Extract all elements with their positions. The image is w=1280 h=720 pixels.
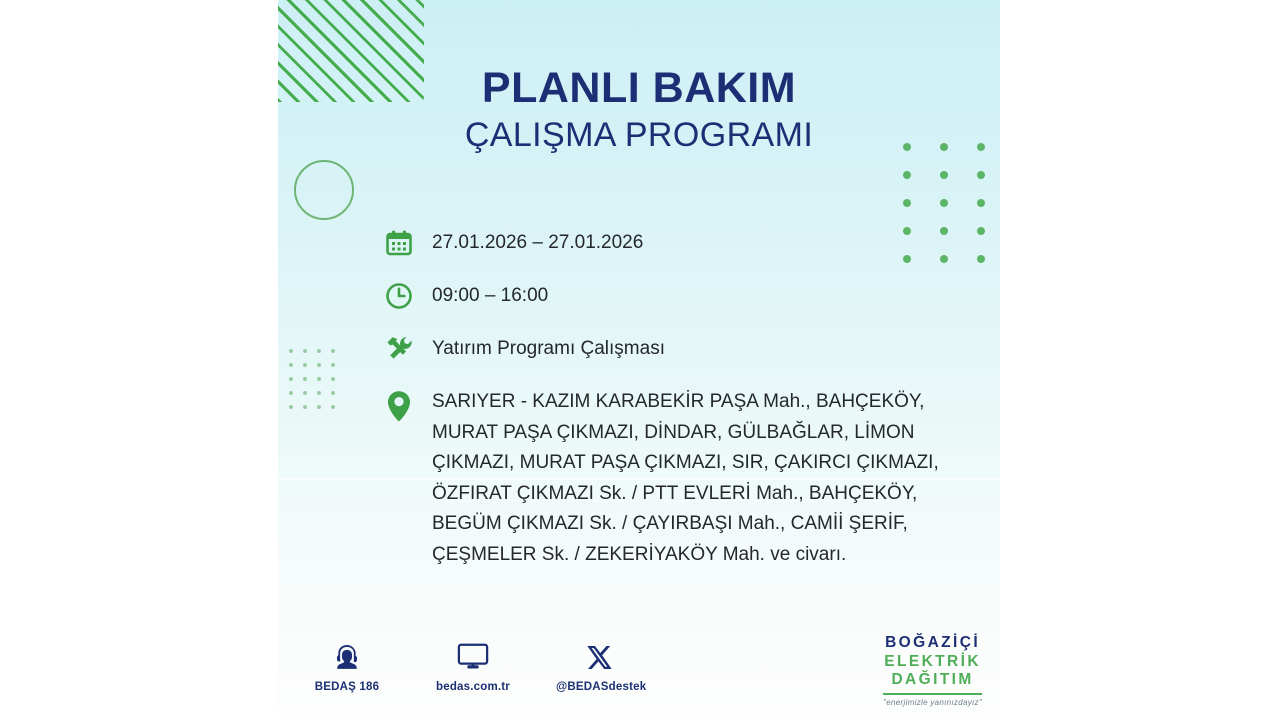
- bedas-logo: BOĞAZİÇİ ELEKTRİK DAĞITIM "enerjimizle y…: [883, 635, 982, 707]
- contact-phone-label: BEDAŞ 186: [304, 681, 390, 693]
- brand-divider: [883, 693, 982, 695]
- calendar-icon: [382, 226, 416, 260]
- maintenance-details: 27.01.2026 – 27.01.2026 09:00 – 16:00: [382, 228, 982, 570]
- title-main: PLANLI BAKIM: [278, 66, 1000, 112]
- planned-maintenance-card: PLANLI BAKIM ÇALIŞMA PROGRAMI: [278, 0, 1000, 720]
- brand-line-3: DAĞITIM: [883, 672, 982, 688]
- time-range-value: 09:00 – 16:00: [432, 281, 548, 310]
- clock-icon: [382, 279, 416, 313]
- headset-support-icon: [304, 640, 390, 674]
- tools-icon: [382, 332, 416, 366]
- x-twitter-icon: [556, 640, 642, 674]
- circle-outline-decoration: [294, 160, 354, 220]
- monitor-website-icon: [430, 640, 516, 674]
- detail-row-date: 27.01.2026 – 27.01.2026: [382, 228, 982, 260]
- page-title: PLANLI BAKIM ÇALIŞMA PROGRAMI: [278, 66, 1000, 155]
- detail-row-address: SARIYER - KAZIM KARABEKİR PAŞA Mah., BAH…: [382, 387, 982, 570]
- location-pin-icon: [382, 389, 416, 423]
- x-social-link[interactable]: @BEDASdestek: [556, 640, 642, 693]
- detail-row-work-type: Yatırım Programı Çalışması: [382, 334, 982, 366]
- brand-line-2: ELEKTRİK: [883, 654, 982, 670]
- website-link[interactable]: bedas.com.tr: [430, 640, 516, 693]
- website-label: bedas.com.tr: [430, 681, 516, 693]
- detail-row-time: 09:00 – 16:00: [382, 281, 982, 313]
- address-value: SARIYER - KAZIM KARABEKİR PAŞA Mah., BAH…: [432, 387, 982, 570]
- brand-tagline: "enerjimizle yanınızdayız": [883, 699, 982, 707]
- title-sub: ÇALIŞMA PROGRAMI: [278, 115, 1000, 155]
- x-social-label: @BEDASdestek: [556, 681, 642, 693]
- brand-line-1: BOĞAZİÇİ: [883, 635, 982, 651]
- work-type-value: Yatırım Programı Çalışması: [432, 334, 665, 363]
- footer-contact-links: BEDAŞ 186 bedas.com.tr @BEDASdestek: [304, 640, 642, 693]
- dot-grid-decoration-left: [289, 349, 345, 419]
- contact-phone-link[interactable]: BEDAŞ 186: [304, 640, 390, 693]
- date-range-value: 27.01.2026 – 27.01.2026: [432, 228, 643, 257]
